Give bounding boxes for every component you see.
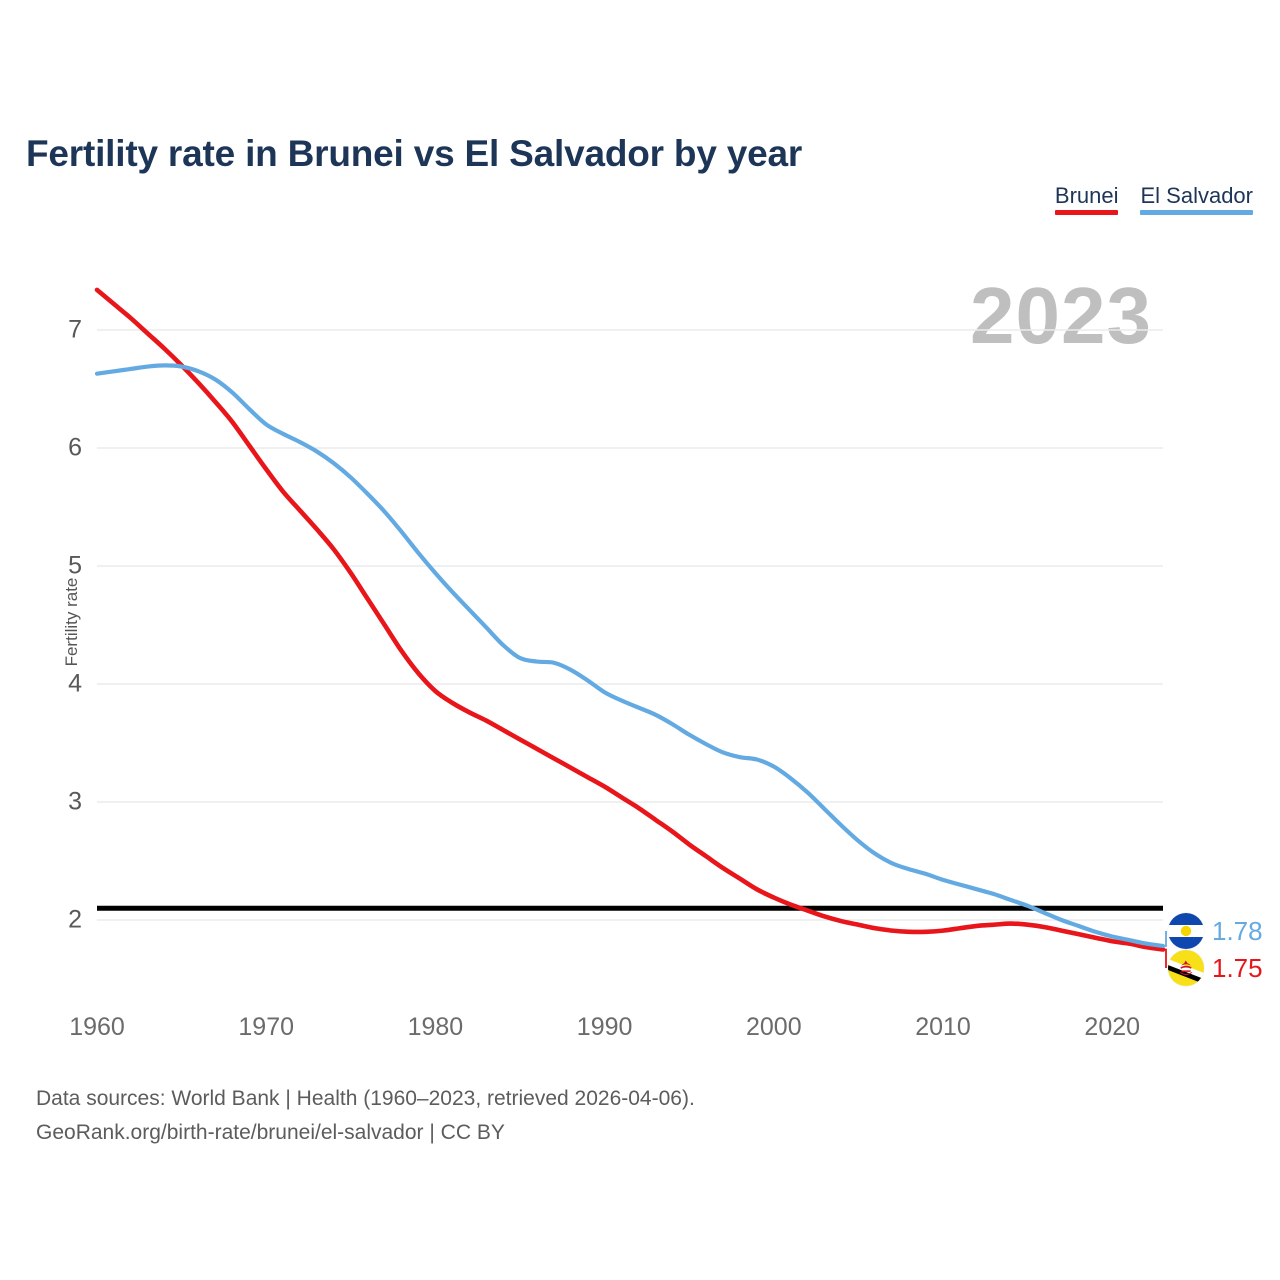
endpoint-value-el-salvador: 1.78 [1212,918,1263,944]
endpoint-el-salvador[interactable]: 1.78 [1168,913,1263,949]
y-tick-label: 7 [42,316,82,345]
x-tick-label: 2010 [915,1013,971,1042]
fertility-rate-chart-page: Fertility rate in Brunei vs El Salvador … [0,0,1280,1280]
y-tick-label: 2 [42,906,82,935]
endpoint-connector-brunei [1163,950,1166,969]
el-salvador-flag-icon [1168,913,1204,949]
y-tick-label: 4 [42,670,82,699]
x-tick-label: 2020 [1084,1013,1140,1042]
brunei-flag-icon [1168,950,1204,986]
y-tick-label: 3 [42,788,82,817]
series-line-brunei [97,290,1163,950]
footer-line-2: GeoRank.org/birth-rate/brunei/el-salvado… [36,1116,695,1150]
x-tick-label: 1980 [408,1013,464,1042]
data-series-group [97,290,1163,950]
footer-line-1: Data sources: World Bank | Health (1960–… [36,1082,695,1116]
endpoint-connectors [1163,931,1166,968]
y-tick-label: 5 [42,552,82,581]
endpoint-value-brunei: 1.75 [1212,955,1263,981]
footer-attribution: Data sources: World Bank | Health (1960–… [36,1082,695,1150]
x-tick-label: 1970 [238,1013,294,1042]
x-tick-label: 2000 [746,1013,802,1042]
endpoint-connector-el-salvador [1163,931,1166,946]
endpoint-brunei[interactable]: 1.75 [1168,950,1263,986]
x-tick-label: 1960 [69,1013,125,1042]
x-tick-label: 1990 [577,1013,633,1042]
y-tick-label: 6 [42,434,82,463]
